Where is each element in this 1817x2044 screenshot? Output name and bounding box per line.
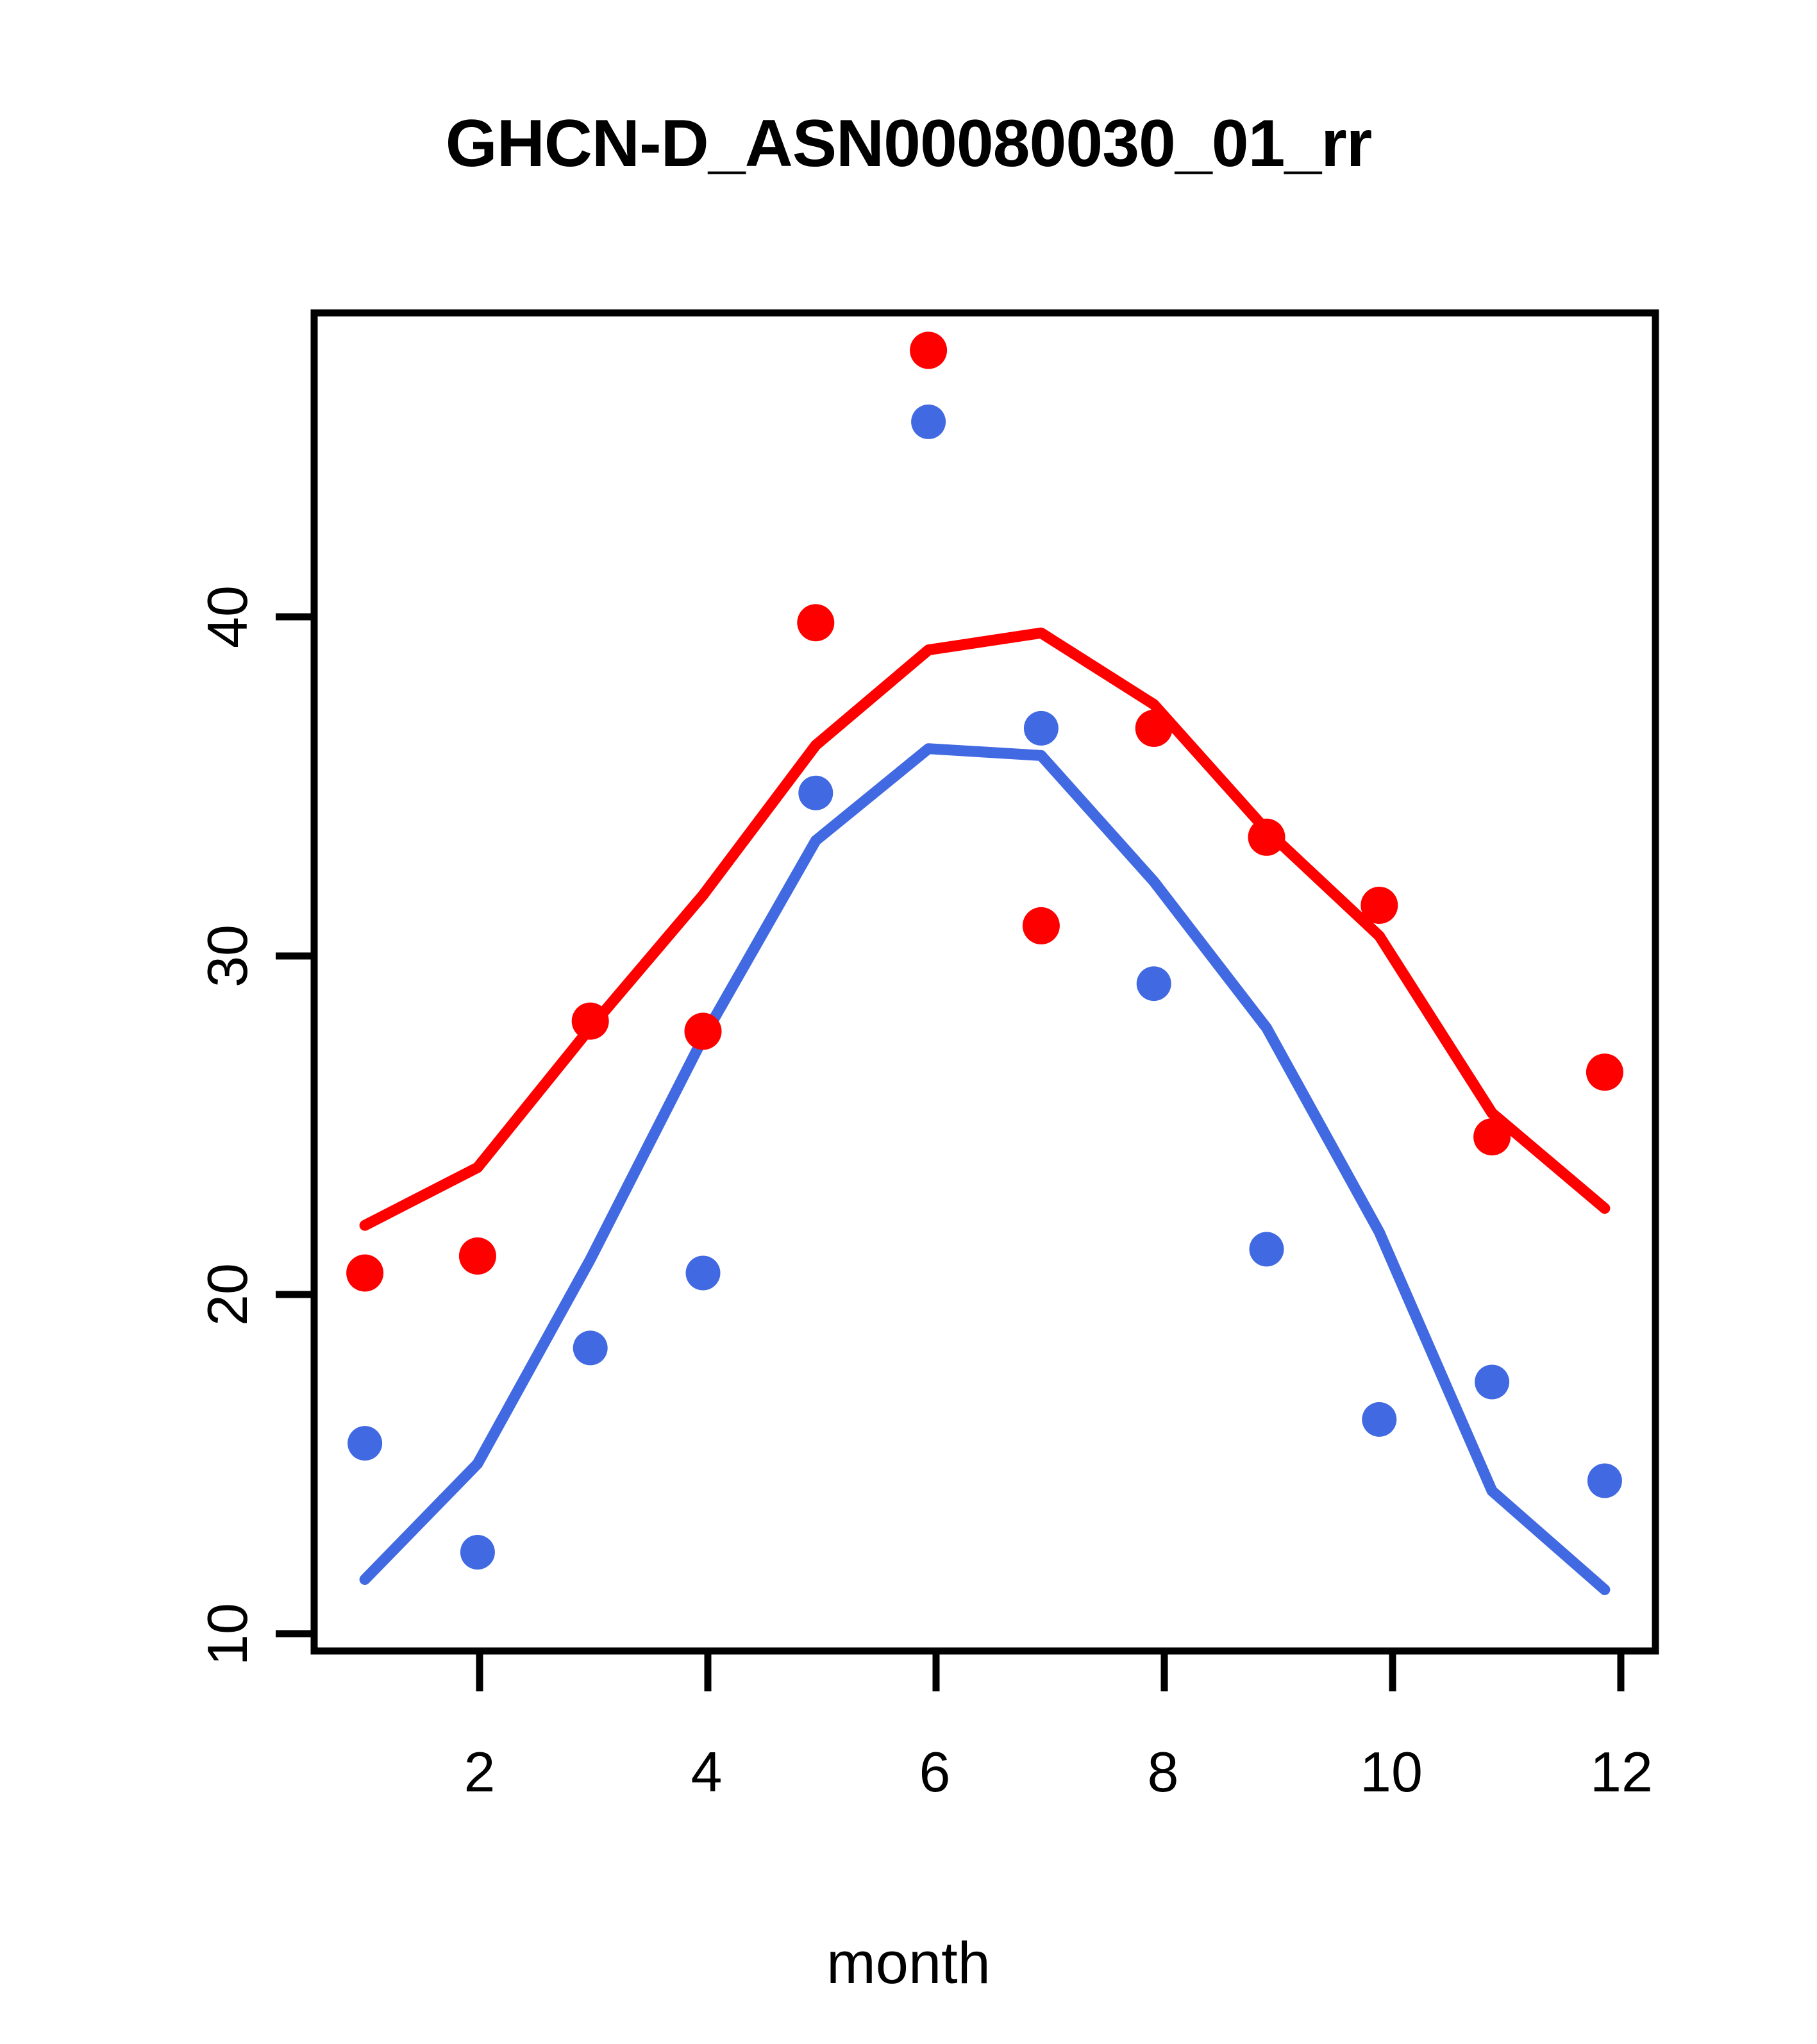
blue-data-point [347, 1426, 382, 1461]
red-trend-line [365, 633, 1605, 1225]
red-data-point [685, 1013, 722, 1050]
x-axis-ticks [480, 1651, 1621, 1691]
blue-data-point [686, 1256, 721, 1291]
blue-data-point [460, 1535, 495, 1570]
red-data-point [572, 1003, 609, 1040]
red-data-point [1023, 907, 1060, 944]
plot-frame [314, 313, 1655, 1651]
blue-data-point [1024, 711, 1059, 746]
blue-data-point [1137, 966, 1171, 1001]
blue-data-point [911, 405, 946, 439]
red-data-point [1135, 710, 1173, 747]
red-data-point [797, 604, 834, 641]
red-data-point [346, 1255, 383, 1292]
blue-data-point [1250, 1232, 1284, 1266]
blue-data-point [1362, 1402, 1396, 1437]
y-axis-ticks [276, 617, 314, 1634]
plot-area [0, 0, 1817, 2044]
red-data-point [910, 331, 947, 369]
blue-data-point [573, 1330, 608, 1365]
red-data-points [346, 331, 1623, 1291]
blue-data-point [798, 776, 833, 810]
red-data-point [459, 1237, 496, 1275]
blue-data-point [1475, 1365, 1509, 1400]
red-data-point [1586, 1053, 1623, 1091]
chart-canvas: GHCN-D_ASN00080030_01_rr 40 30 20 10 2 4… [0, 0, 1817, 2044]
red-data-point [1248, 819, 1285, 856]
red-data-point [1473, 1118, 1511, 1155]
red-data-point [1361, 887, 1398, 924]
blue-data-points [347, 405, 1622, 1570]
blue-trend-line [365, 749, 1605, 1590]
blue-data-point [1587, 1464, 1622, 1498]
